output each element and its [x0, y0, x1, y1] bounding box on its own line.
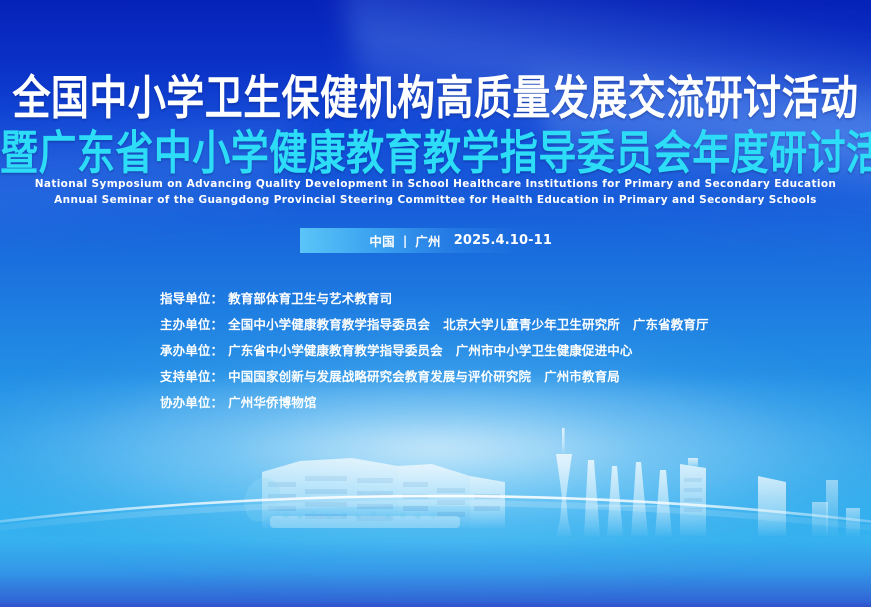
venue-date-ribbon: 中国 | 广州 2025.4.10-11 [300, 228, 560, 253]
conference-poster: 全国中小学卫生保健机构高质量发展交流研讨活动 暨广东省中小学健康教育教学指导委员… [0, 0, 871, 607]
organization-list: 指导单位：教育部体育卫生与艺术教育司主办单位：全国中小学健康教育教学指导委员会北… [160, 288, 860, 418]
organization-row: 指导单位：教育部体育卫生与艺术教育司 [160, 288, 860, 314]
venue-separator: | [402, 234, 408, 248]
organization-values: 广东省中小学健康教育教学指导委员会广州市中小学卫生健康促进中心 [228, 340, 632, 359]
poster-subtitle-english: National Symposium on Advancing Quality … [0, 176, 871, 209]
organization-values: 中国国家创新与发展战略研究会教育发展与评价研究院广州市教育局 [228, 366, 620, 385]
organization-label: 协办单位： [160, 392, 223, 411]
poster-title: 全国中小学卫生保健机构高质量发展交流研讨活动 暨广东省中小学健康教育教学指导委员… [0, 75, 871, 168]
organization-name: 广州市中小学卫生健康促进中心 [456, 343, 633, 358]
subtitle-line-1: National Symposium on Advancing Quality … [0, 176, 871, 192]
title-line-primary: 全国中小学卫生保健机构高质量发展交流研讨活动 [0, 75, 871, 121]
subtitle-line-2: Annual Seminar of the Guangdong Provinci… [0, 192, 871, 208]
venue-city: 广州 [415, 231, 441, 250]
organization-label: 主办单位： [160, 314, 223, 333]
venue-country: 中国 [369, 231, 395, 250]
organization-name: 中国国家创新与发展战略研究会教育发展与评价研究院 [228, 369, 531, 384]
organization-row: 协办单位：广州华侨博物馆 [160, 392, 860, 418]
organization-row: 主办单位：全国中小学健康教育教学指导委员会北京大学儿童青少年卫生研究所广东省教育… [160, 314, 860, 340]
organization-name: 广州华侨博物馆 [228, 395, 316, 410]
organization-name: 北京大学儿童青少年卫生研究所 [443, 317, 620, 332]
title-line-secondary: 暨广东省中小学健康教育教学指导委员会年度研讨活动 [0, 130, 871, 176]
organization-values: 教育部体育卫生与艺术教育司 [228, 288, 392, 307]
organization-label: 指导单位： [160, 288, 223, 307]
event-date: 2025.4.10-11 [454, 233, 552, 248]
organization-values: 全国中小学健康教育教学指导委员会北京大学儿童青少年卫生研究所广东省教育厅 [228, 314, 709, 333]
organization-row: 承办单位：广东省中小学健康教育教学指导委员会广州市中小学卫生健康促进中心 [160, 340, 860, 366]
organization-name: 广东省教育厅 [633, 317, 709, 332]
organization-name: 广东省中小学健康教育教学指导委员会 [228, 343, 443, 358]
organization-name: 教育部体育卫生与艺术教育司 [228, 291, 392, 306]
organization-values: 广州华侨博物馆 [228, 392, 316, 411]
organization-label: 承办单位： [160, 340, 223, 359]
organization-name: 广州市教育局 [544, 369, 620, 384]
organization-name: 全国中小学健康教育教学指导委员会 [228, 317, 430, 332]
organization-row: 支持单位：中国国家创新与发展战略研究会教育发展与评价研究院广州市教育局 [160, 366, 860, 392]
organization-label: 支持单位： [160, 366, 223, 385]
